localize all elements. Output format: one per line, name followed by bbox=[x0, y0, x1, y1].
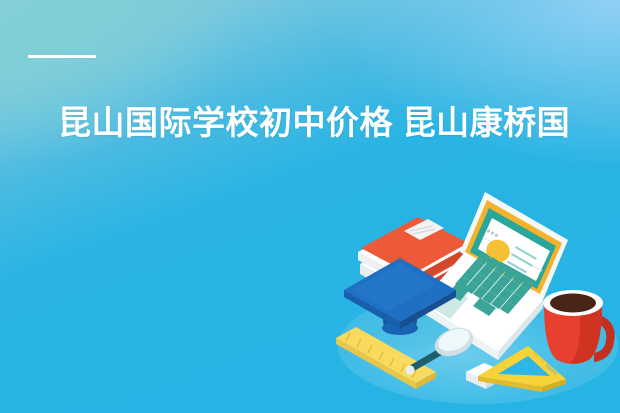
screen-card-dot-1 bbox=[487, 229, 490, 232]
magnifier-handle-cap bbox=[405, 365, 414, 374]
screen-card-dot-2 bbox=[491, 231, 494, 234]
isometric-desk-illustration bbox=[328, 186, 620, 413]
divider-rule bbox=[28, 55, 96, 58]
promo-banner: 昆山国际学校初中价格 昆山康桥国 bbox=[0, 0, 620, 413]
screen-card-dot-3 bbox=[495, 234, 498, 237]
mug-coffee bbox=[550, 294, 596, 313]
banner-headline: 昆山国际学校初中价格 昆山康桥国 bbox=[58, 103, 618, 143]
